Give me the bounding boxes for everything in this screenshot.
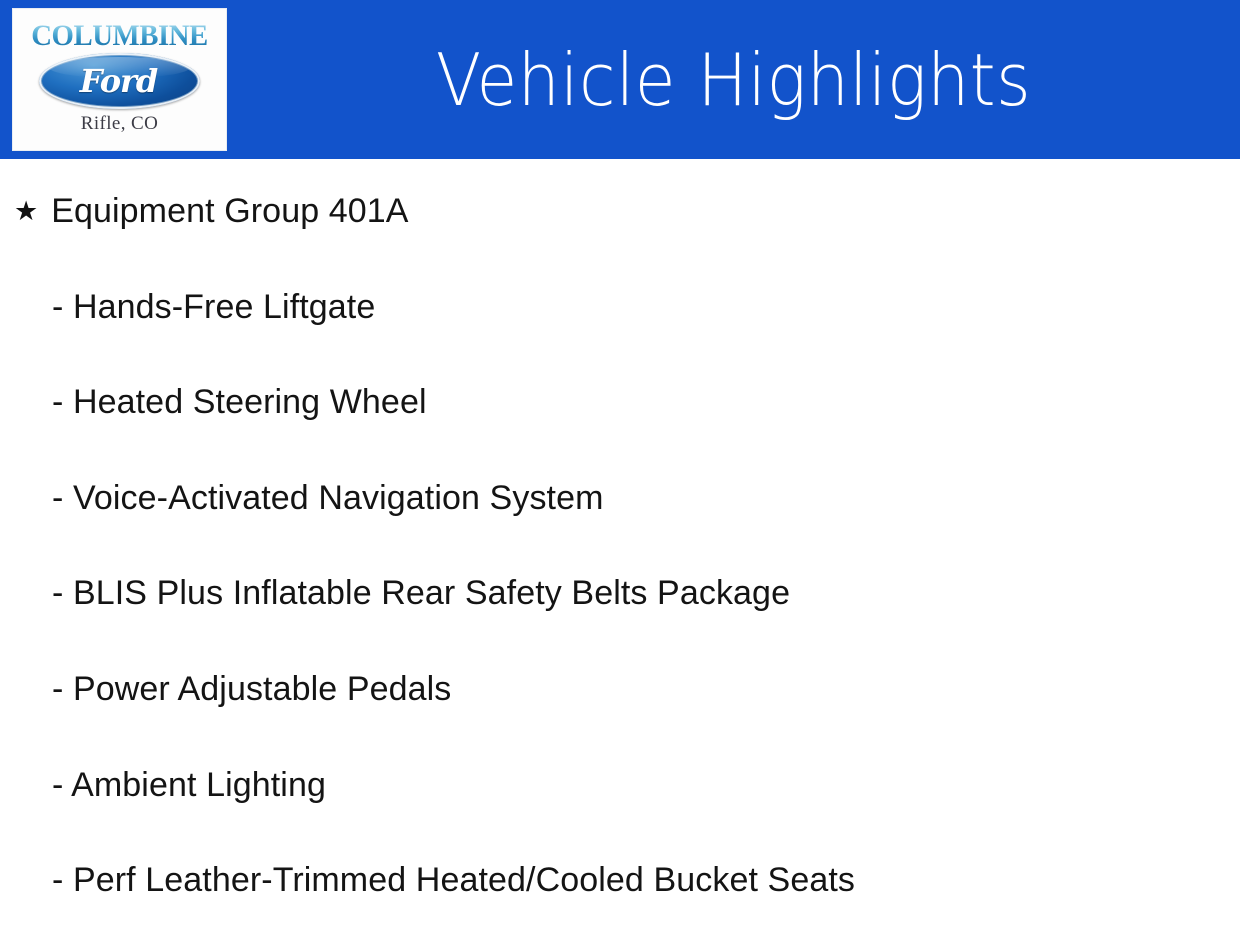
list-item-label: - BLIS Plus Inflatable Rear Safety Belts… [52, 576, 790, 610]
list-item-label: - Perf Leather-Trimmed Heated/Cooled Buc… [52, 863, 855, 897]
list-item: - BLIS Plus Inflatable Rear Safety Belts… [0, 563, 1240, 623]
list-item: - Power Adjustable Pedals [0, 659, 1240, 719]
list-item: - Perf Leather-Trimmed Heated/Cooled Buc… [0, 850, 1240, 910]
list-item-label: - Hands-Free Liftgate [52, 290, 375, 324]
dealer-logo-inner: COLUMBINE Ford Rifle, CO [13, 9, 226, 150]
list-item: - Heated Steering Wheel [0, 372, 1240, 432]
highlights-list: ★ Equipment Group 401A - Hands-Free Lift… [0, 159, 1240, 930]
list-item: - Hands-Free Liftgate [0, 277, 1240, 337]
vehicle-highlights-slide: COLUMBINE Ford Rifle, CO Vehicle Highlig… [0, 0, 1240, 930]
page-title: Vehicle Highlights [268, 0, 1200, 159]
list-item-label: - Ambient Lighting [52, 768, 326, 802]
list-item: - Ambient Lighting [0, 755, 1240, 815]
dealer-city-state-text: Rifle, CO [13, 113, 226, 135]
list-item-label: - Power Adjustable Pedals [52, 672, 451, 706]
dealer-logo: COLUMBINE Ford Rifle, CO [12, 8, 227, 151]
star-bullet-icon: ★ [14, 198, 38, 225]
ford-wordmark-text: Ford [39, 53, 200, 109]
list-item: - Voice-Activated Navigation System [0, 468, 1240, 528]
list-item-label: Equipment Group 401A [51, 194, 408, 228]
list-item-label: - Heated Steering Wheel [52, 385, 427, 419]
list-item: ★ Equipment Group 401A [0, 181, 1240, 241]
ford-oval-icon: Ford [39, 53, 200, 109]
list-item-label: - Voice-Activated Navigation System [52, 481, 604, 515]
dealer-name-text: COLUMBINE [17, 21, 221, 51]
